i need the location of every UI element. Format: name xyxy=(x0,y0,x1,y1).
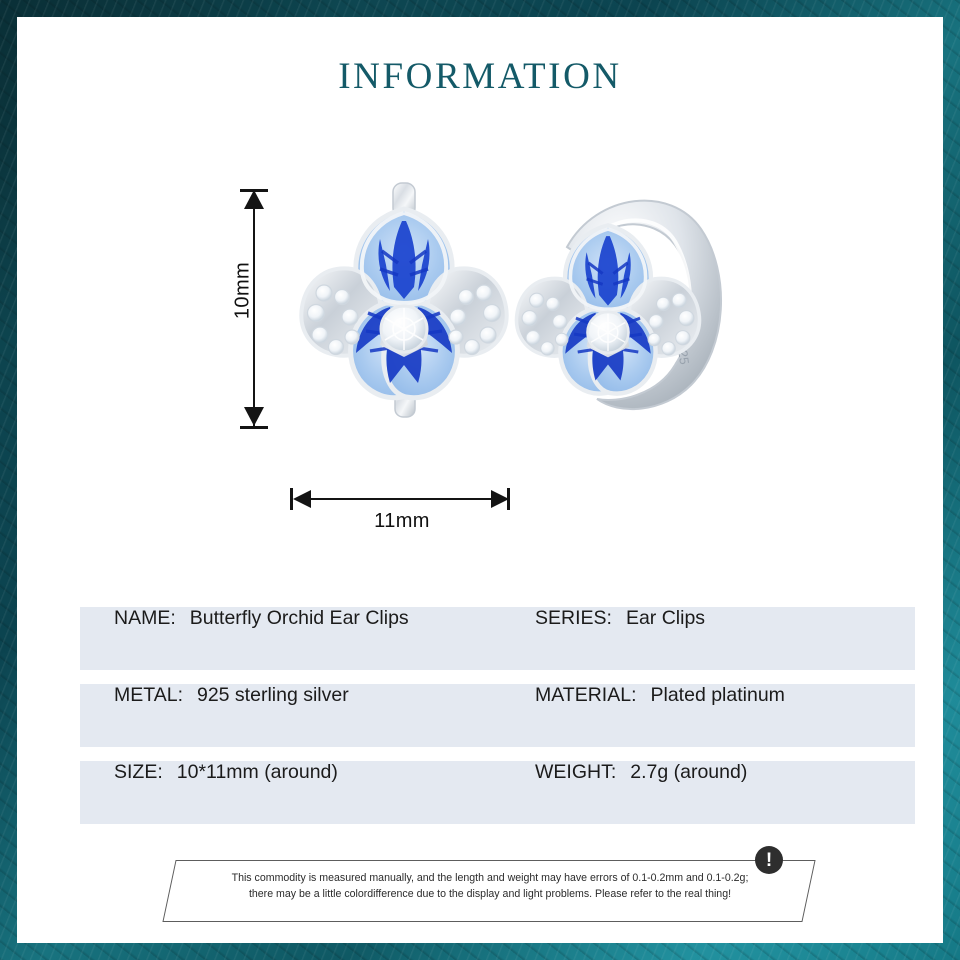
earrings-product-image: S925 xyxy=(267,167,797,467)
disclaimer-line-1: This commodity is measured manually, and… xyxy=(207,871,773,887)
spec-cell-weight: WEIGHT: 2.7g (around) xyxy=(535,761,915,824)
left-earring xyxy=(301,183,506,417)
product-photo-section: 10mm xyxy=(17,17,943,562)
spec-label-series: SERIES: xyxy=(535,607,612,630)
table-row: METAL: 925 sterling silver MATERIAL: Pla… xyxy=(80,684,915,747)
spec-value-material: Plated platinum xyxy=(651,684,785,707)
disclaimer-line-2: there may be a little colordifference du… xyxy=(207,887,773,903)
content-canvas: INFORMATION 10mm xyxy=(17,17,943,943)
disclaimer-note: This commodity is measured manually, and… xyxy=(169,860,809,922)
spec-cell-metal: METAL: 925 sterling silver xyxy=(80,684,535,747)
height-dimension-label: 10mm xyxy=(232,251,255,331)
spec-label-name: NAME: xyxy=(114,607,176,630)
spec-value-metal: 925 sterling silver xyxy=(197,684,349,707)
dimension-line-horizontal xyxy=(297,498,505,500)
width-dimension-label: 11mm xyxy=(317,510,487,533)
spec-cell-name: NAME: Butterfly Orchid Ear Clips xyxy=(80,607,535,670)
dimension-cap-bottom xyxy=(240,426,268,429)
table-row: NAME: Butterfly Orchid Ear Clips SERIES:… xyxy=(80,607,915,670)
spec-label-size: SIZE: xyxy=(114,761,163,784)
spec-label-weight: WEIGHT: xyxy=(535,761,616,784)
spec-value-name: Butterfly Orchid Ear Clips xyxy=(190,607,409,630)
spec-cell-series: SERIES: Ear Clips xyxy=(535,607,915,670)
spec-cell-size: SIZE: 10*11mm (around) xyxy=(80,761,535,824)
exclamation-icon: ! xyxy=(755,846,783,874)
spec-label-material: MATERIAL: xyxy=(535,684,637,707)
spec-value-series: Ear Clips xyxy=(626,607,705,630)
information-page: INFORMATION 10mm xyxy=(0,0,960,960)
spec-value-size: 10*11mm (around) xyxy=(177,761,338,784)
disclaimer-text: This commodity is measured manually, and… xyxy=(207,871,773,902)
specification-table: NAME: Butterfly Orchid Ear Clips SERIES:… xyxy=(80,607,915,838)
arrow-down-icon xyxy=(244,407,264,426)
spec-label-metal: METAL: xyxy=(114,684,183,707)
spec-value-weight: 2.7g (around) xyxy=(630,761,747,784)
dimension-cap-right xyxy=(507,488,510,510)
right-earring: S925 xyxy=(517,201,722,409)
spec-cell-material: MATERIAL: Plated platinum xyxy=(535,684,915,747)
table-row: SIZE: 10*11mm (around) WEIGHT: 2.7g (aro… xyxy=(80,761,915,824)
